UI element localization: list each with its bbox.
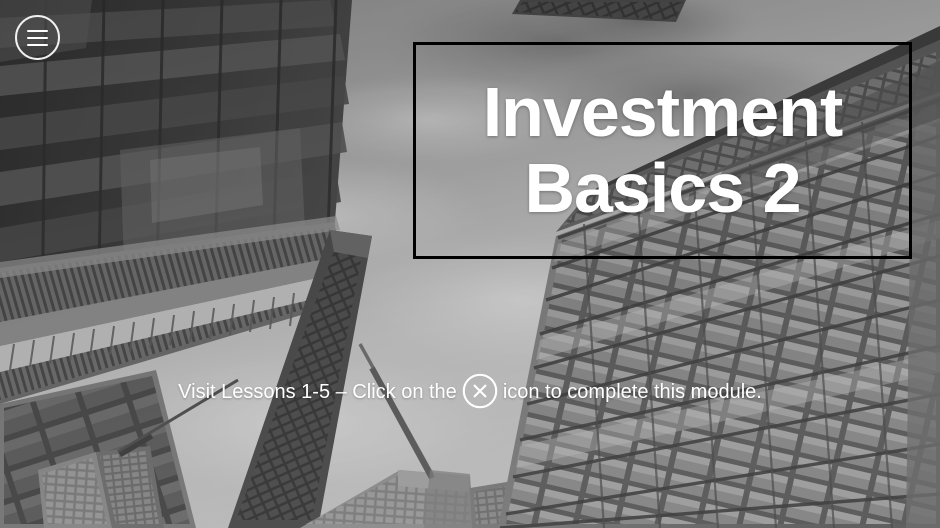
- caption-text-before: Visit Lessons 1-5 – Click on the: [178, 380, 457, 404]
- instruction-caption: Visit Lessons 1-5 – Click on the icon to…: [0, 375, 940, 409]
- hamburger-bar-2: [27, 37, 48, 39]
- hamburger-menu-button[interactable]: [15, 15, 60, 60]
- title-card: Investment Basics 2: [413, 42, 912, 259]
- caption-text-after: icon to complete this module.: [503, 380, 762, 404]
- circle-x-icon[interactable]: [461, 372, 499, 410]
- hamburger-menu-icon: [27, 30, 48, 32]
- hamburger-bar-3: [27, 44, 48, 46]
- page-title-line-1: Investment: [483, 77, 843, 148]
- slide-canvas: Investment Basics 2 Visit Lessons 1-5 – …: [0, 0, 940, 528]
- page-title-line-2: Basics 2: [524, 153, 800, 224]
